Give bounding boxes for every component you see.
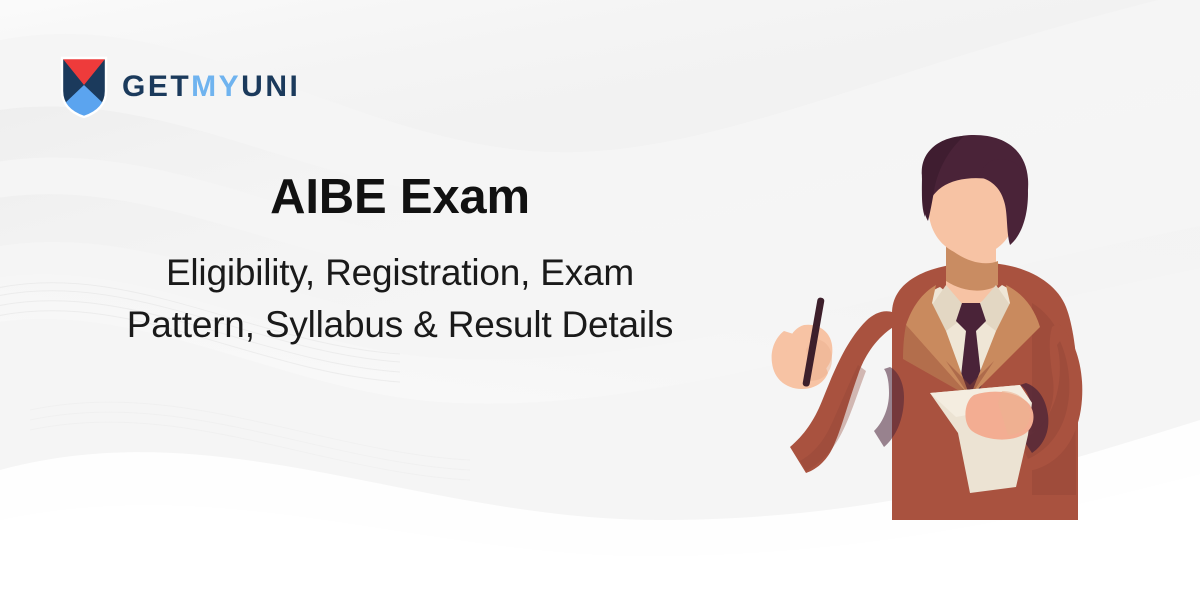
wordmark-get: GET <box>122 70 191 103</box>
page-title: AIBE Exam <box>70 170 730 225</box>
brand-wordmark: GETMYUNI <box>122 72 300 102</box>
page-subtitle: Eligibility, Registration, Exam Pattern,… <box>100 247 700 352</box>
person-illustration-graphic <box>770 135 1170 520</box>
wordmark-uni: UNI <box>241 70 300 103</box>
wordmark-my: MY <box>191 70 241 103</box>
man-with-pen-and-paper-illustration <box>770 135 1170 520</box>
aibe-exam-banner: GETMYUNI AIBE Exam Eligibility, Registra… <box>0 0 1200 600</box>
jacket-bottom <box>892 495 1078 520</box>
brand-logo[interactable]: GETMYUNI <box>60 55 300 119</box>
hero-copy: AIBE Exam Eligibility, Registration, Exa… <box>70 170 730 352</box>
getmyuni-shield-logo-icon <box>60 55 108 119</box>
